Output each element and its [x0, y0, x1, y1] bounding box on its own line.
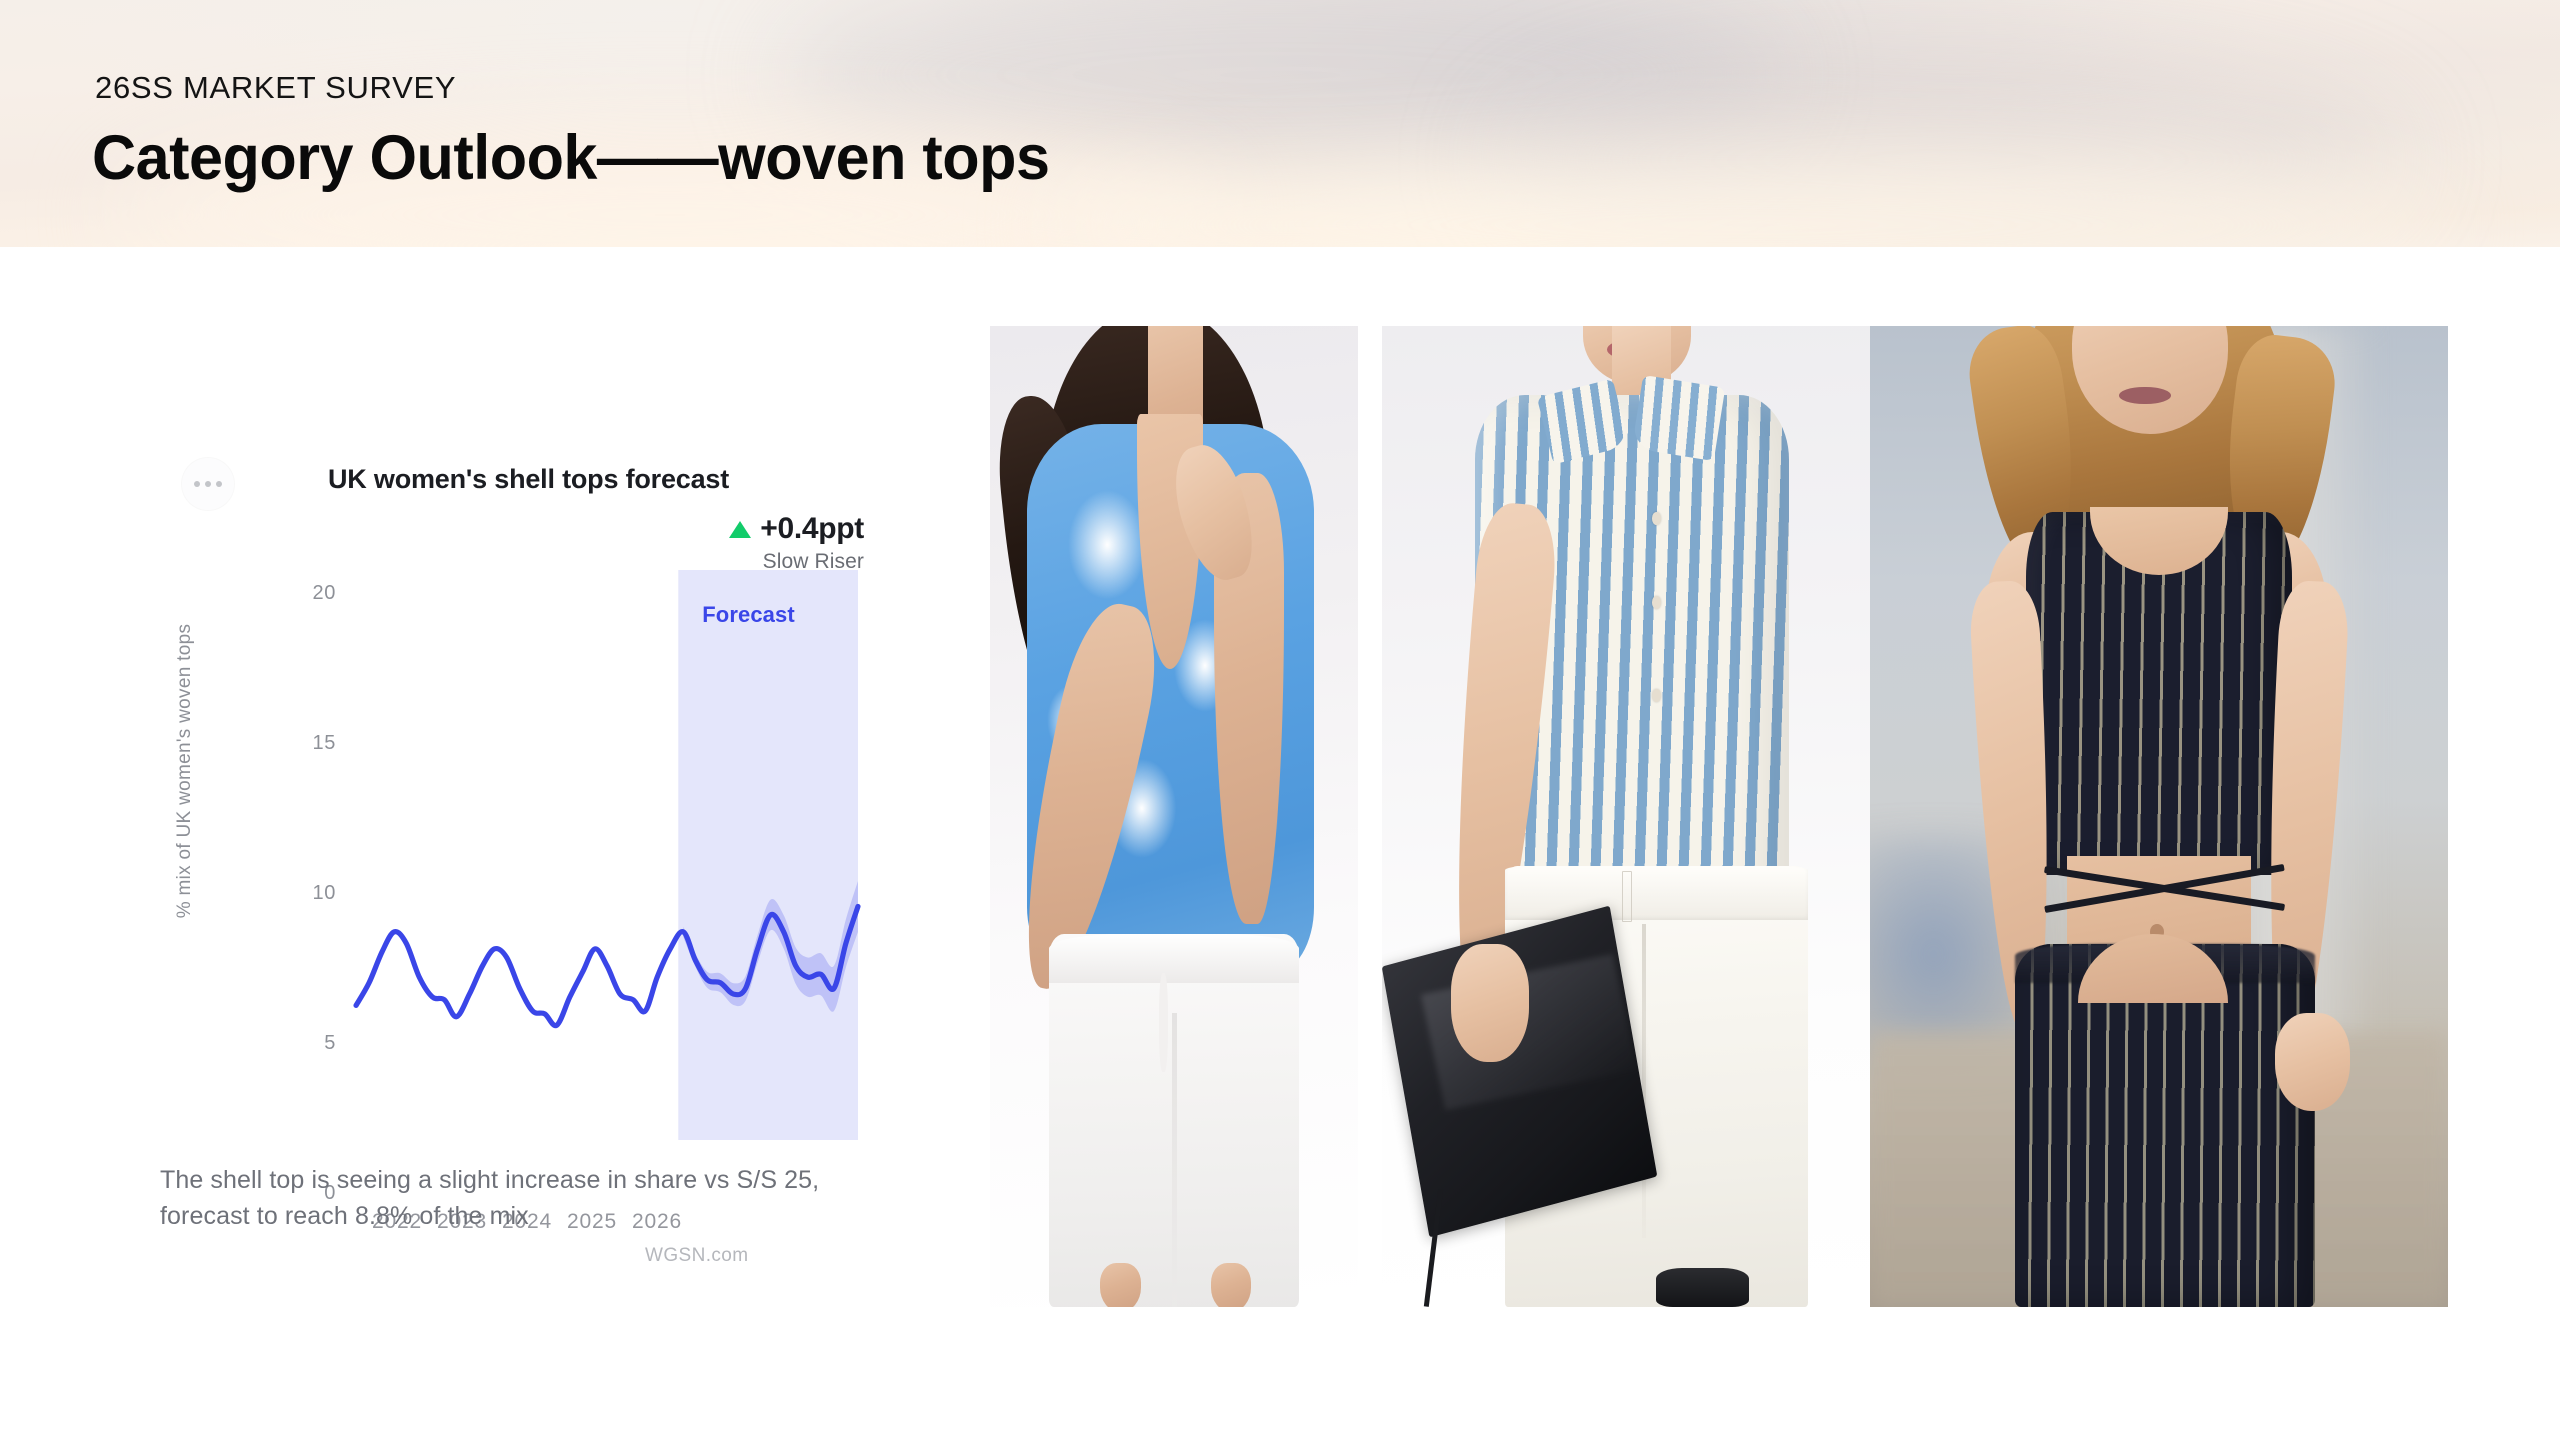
trouser-leg-split [1172, 1013, 1177, 1307]
garment-drawstring [1159, 973, 1168, 1071]
accessory-black-shoe [1656, 1268, 1749, 1307]
eyebrow-label: 26SS MARKET SURVEY [95, 70, 456, 106]
garment-button [1652, 596, 1661, 609]
chart-plot-area: % mix of UK women's woven tops 20 15 10 … [150, 420, 890, 1140]
photo-blue-stripe-shirt[interactable] [1382, 326, 1872, 1307]
page-header: 26SS MARKET SURVEY Category Outlook——wov… [0, 0, 2560, 247]
line-chart-svg [150, 420, 890, 1140]
photo-blue-print-shell-top[interactable] [990, 326, 1358, 1307]
garment-pleat [1642, 924, 1646, 1238]
garment-waistband [1049, 934, 1299, 983]
garment-belt-loop [1622, 871, 1632, 922]
garment-waistband [1505, 866, 1809, 920]
chart-caption: The shell top is seeing a slight increas… [160, 1163, 890, 1234]
garment-collar-right [1632, 375, 1726, 461]
model-hand [2275, 1013, 2350, 1111]
garment-button [1652, 689, 1661, 702]
photo-pinstripe-crop-tank[interactable] [1870, 326, 2448, 1307]
forecast-band-label: Forecast [702, 602, 795, 628]
page-title: Category Outlook——woven tops [92, 122, 1049, 194]
model-foot-left [1100, 1263, 1140, 1307]
chart-card: UK women's shell tops forecast +0.4ppt S… [150, 420, 890, 1140]
model-foot-right [1211, 1263, 1251, 1307]
model-hand [1451, 944, 1529, 1062]
garment-button [1652, 512, 1661, 525]
